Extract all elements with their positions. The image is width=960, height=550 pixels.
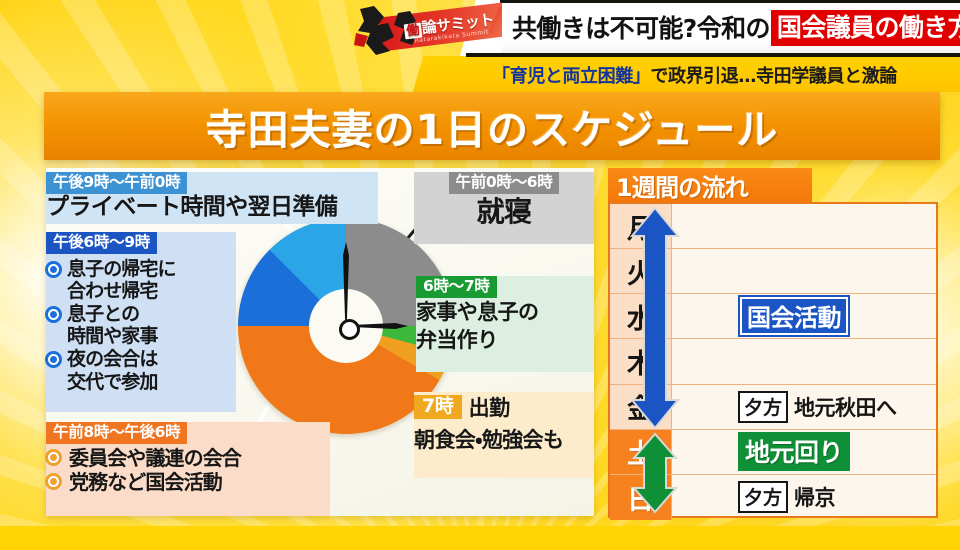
table-row: 火 bbox=[610, 249, 936, 294]
header-divider-rule bbox=[466, 53, 960, 57]
commute-note: 朝食会・勉強会も bbox=[414, 429, 594, 453]
evening-item-1-line1: 息子との bbox=[48, 303, 236, 325]
daytime-item-list: 委員会や議連の会合 党務など国会活動 bbox=[46, 446, 330, 494]
schedule-block-morning: 6時〜7時 家事や息子の 弁当作り bbox=[416, 276, 594, 372]
weekday-content: 夕方 帰京 bbox=[672, 475, 936, 520]
list-item: 息子の帰宅に 合わせ帰宅 bbox=[48, 258, 236, 302]
commute-label: 出勤 bbox=[469, 392, 510, 422]
evening-item-2-line1: 夜の会合は bbox=[48, 348, 236, 370]
weekday-cell: 金 bbox=[610, 385, 672, 429]
evening-item-1-line2: 時間や家事 bbox=[48, 325, 236, 347]
page-title: 寺田夫妻の1日のスケジュール bbox=[206, 96, 779, 156]
diet-activity-badge: 国会活動 bbox=[738, 295, 850, 337]
morning-description-line1: 家事や息子の bbox=[416, 300, 594, 325]
sunday-note: 帰京 bbox=[794, 482, 835, 512]
table-row: 木 bbox=[610, 339, 936, 384]
weekly-schedule-panel: 1週間の流れ 月 火 水 国会活動 木 金 bbox=[608, 168, 938, 518]
sleep-description: 就寝 bbox=[414, 196, 594, 227]
main-title-bar: 寺田夫妻の1日のスケジュール bbox=[44, 92, 940, 160]
weekly-panel-header: 1週間の流れ bbox=[608, 168, 812, 202]
headline-pre: 共働きは不可能?令和の bbox=[512, 16, 770, 41]
list-item: 党務など国会活動 bbox=[48, 470, 330, 494]
broadcast-graphic: 働論サミット Hatarakikata Summit 共働きは不可能?令和の国会… bbox=[0, 0, 960, 526]
table-row: 月 bbox=[610, 204, 936, 249]
weekly-table: 月 火 水 国会活動 木 金 夕方 地元秋田へ bbox=[608, 202, 938, 518]
schedule-block-commute: 7時 出勤 朝食会・勉強会も bbox=[414, 392, 594, 478]
weekday-content bbox=[672, 204, 936, 248]
night-description: プライベート時間や翌日準備 bbox=[46, 195, 378, 221]
headline-highlight: 国会議員の働き方 bbox=[773, 12, 960, 44]
daytime-time-label: 午前8時〜午後6時 bbox=[46, 422, 187, 444]
schedule-block-evening: 午後6時〜9時 息子の帰宅に 合わせ帰宅 息子との 時間や家事 夜の会合は 交代… bbox=[46, 232, 236, 412]
header-top-rule bbox=[500, 0, 960, 3]
weekday-content bbox=[672, 339, 936, 383]
subheadline-rest: で政界引退…寺田学議員と激論 bbox=[650, 62, 896, 88]
weekday-cell: 水 bbox=[610, 294, 672, 338]
evening-badge: 夕方 bbox=[738, 391, 788, 423]
commute-time-label: 7時 bbox=[414, 395, 462, 419]
evening-badge: 夕方 bbox=[738, 481, 788, 513]
list-item: 息子との 時間や家事 bbox=[48, 303, 236, 347]
local-round-badge: 地元回り bbox=[738, 432, 850, 471]
headline: 共働きは不可能?令和の国会議員の働き方とは bbox=[512, 5, 952, 51]
evening-item-0-line1: 息子の帰宅に bbox=[48, 258, 236, 280]
list-item: 委員会や議連の会合 bbox=[48, 446, 330, 470]
weekday-cell: 火 bbox=[610, 249, 672, 293]
weekday-content: 地元回り bbox=[672, 430, 936, 474]
subheadline: 「育児と両立困難」で政界引退…寺田学議員と激論 bbox=[492, 60, 954, 89]
schedule-block-daytime: 午前8時〜午後6時 委員会や議連の会合 党務など国会活動 bbox=[46, 422, 330, 516]
clock-center-pin bbox=[339, 319, 360, 340]
table-row: 金 夕方 地元秋田へ bbox=[610, 385, 936, 430]
friday-note: 地元秋田へ bbox=[794, 392, 897, 422]
schedule-block-night: 午後9時〜午前0時 プライベート時間や翌日準備 bbox=[46, 172, 378, 224]
night-time-label: 午後9時〜午前0時 bbox=[46, 172, 187, 194]
subheadline-quote: 「育児と両立困難」 bbox=[492, 62, 650, 88]
list-item: 夜の会合は 交代で参加 bbox=[48, 348, 236, 392]
weekday-content bbox=[672, 249, 936, 293]
evening-item-2-line2: 交代で参加 bbox=[48, 371, 236, 393]
weekday-cell: 日 bbox=[610, 475, 672, 520]
evening-item-0-line2: 合わせ帰宅 bbox=[48, 280, 236, 302]
program-logo: 働論サミット Hatarakikata Summit bbox=[352, 2, 502, 60]
program-header: 働論サミット Hatarakikata Summit 共働きは不可能?令和の国会… bbox=[0, 0, 960, 92]
weekday-content: 国会活動 bbox=[672, 294, 936, 338]
table-row: 土 地元回り bbox=[610, 430, 936, 475]
table-row: 水 国会活動 bbox=[610, 294, 936, 339]
morning-time-label: 6時〜7時 bbox=[416, 276, 497, 298]
sleep-time-label: 午前0時〜6時 bbox=[449, 172, 560, 194]
weekday-cell: 土 bbox=[610, 430, 672, 474]
weekday-cell: 木 bbox=[610, 339, 672, 383]
weekday-content: 夕方 地元秋田へ bbox=[672, 385, 936, 429]
table-row: 日 夕方 帰京 bbox=[610, 475, 936, 520]
weekly-panel-title: 1週間の流れ bbox=[616, 168, 748, 203]
evening-time-label: 午後6時〜9時 bbox=[46, 232, 157, 254]
evening-item-list: 息子の帰宅に 合わせ帰宅 息子との 時間や家事 夜の会合は 交代で参加 bbox=[46, 258, 236, 392]
weekday-cell: 月 bbox=[610, 204, 672, 248]
morning-description-line2: 弁当作り bbox=[416, 328, 594, 353]
schedule-block-sleep: 午前0時〜6時 就寝 bbox=[414, 172, 594, 244]
